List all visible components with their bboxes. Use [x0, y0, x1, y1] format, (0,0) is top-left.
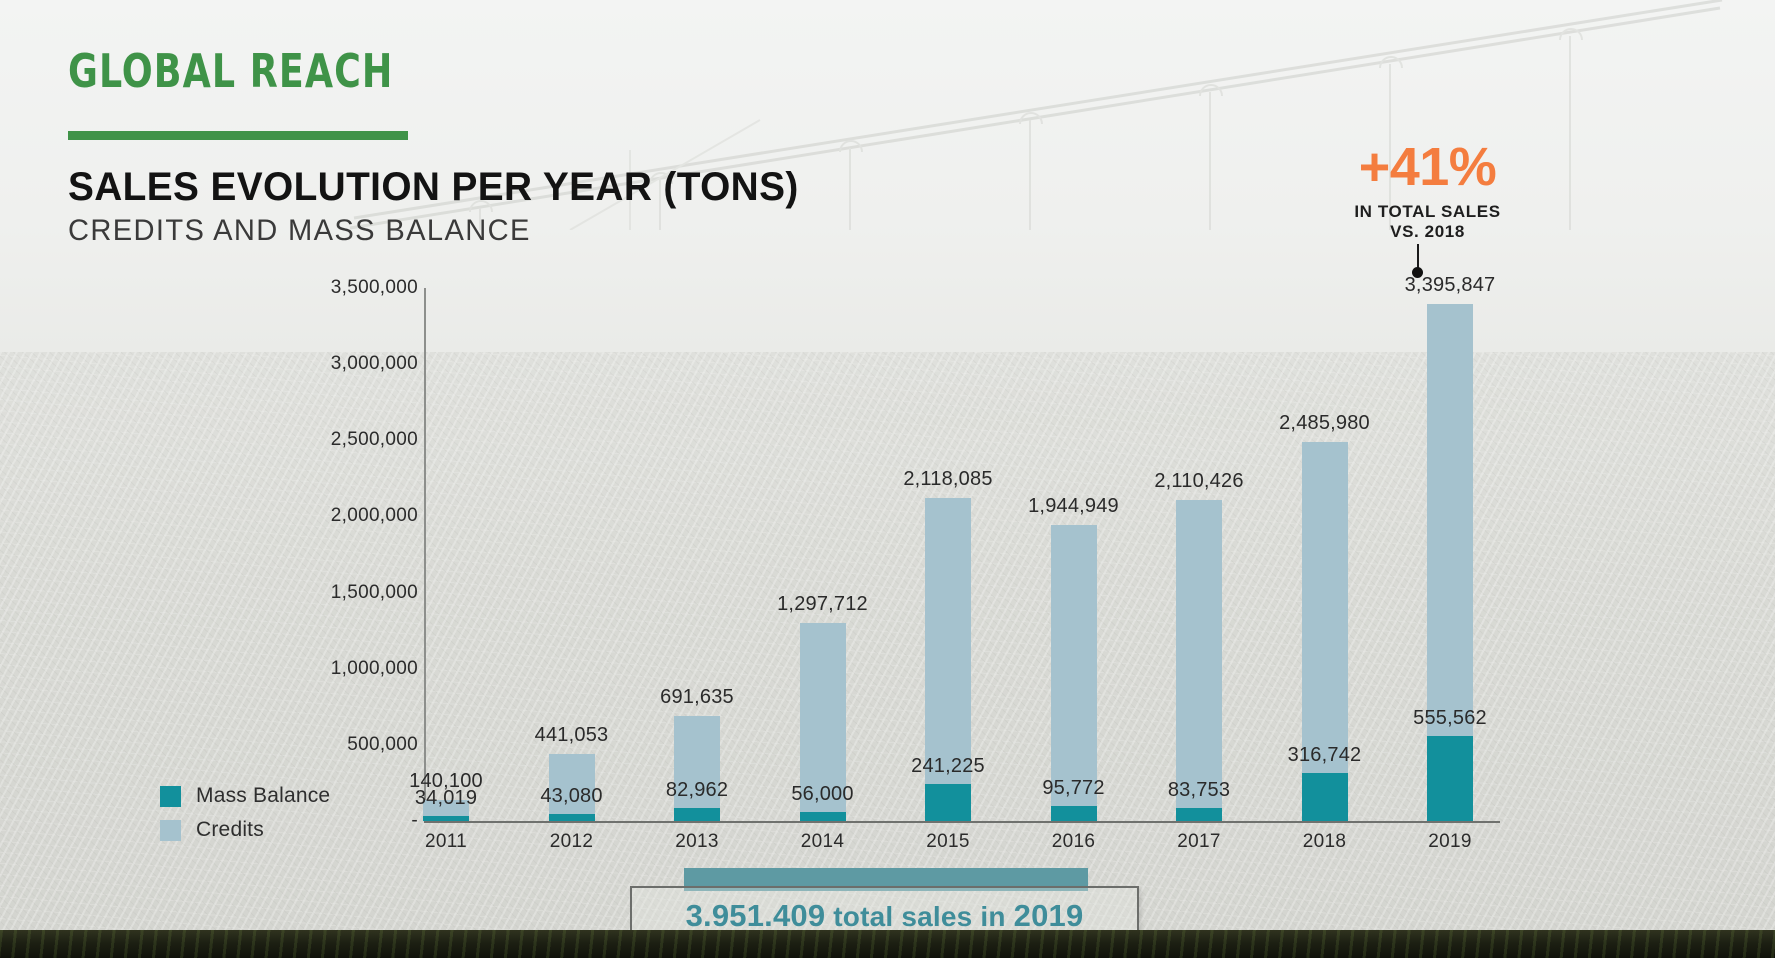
x-axis-tick: 2014 — [763, 831, 883, 853]
bar-label-mass-balance: 82,962 — [666, 779, 728, 802]
bar-label-mass-balance: 316,742 — [1288, 744, 1362, 767]
bar-segment-mass-balance[interactable] — [1302, 773, 1348, 821]
bar-label-credits: 1,944,949 — [1028, 495, 1119, 518]
bar-segment-mass-balance[interactable] — [800, 812, 846, 821]
bar-column[interactable]: 1,944,94995,772 — [1051, 525, 1097, 821]
x-axis-line — [424, 821, 1500, 823]
bar-label-mass-balance: 83,753 — [1168, 779, 1230, 802]
legend-label-mass-balance: Mass Balance — [196, 784, 330, 808]
y-axis-tick: 500,000 — [268, 734, 418, 756]
bar-label-credits: 441,053 — [535, 724, 609, 747]
y-axis-tick: 1,500,000 — [268, 582, 418, 604]
total-sales-middle: total sales in — [825, 901, 1013, 932]
bar-column[interactable]: 140,10034,019 — [423, 800, 469, 821]
x-axis-tick: 2017 — [1139, 831, 1259, 853]
bar-segment-mass-balance[interactable] — [925, 784, 971, 821]
bar-label-credits: 2,110,426 — [1154, 470, 1243, 493]
bar-segment-credits[interactable] — [925, 498, 971, 784]
bar-column[interactable]: 2,118,085241,225 — [925, 498, 971, 821]
bar-column[interactable]: 2,485,980316,742 — [1302, 442, 1348, 821]
bar-segment-mass-balance[interactable] — [1176, 808, 1222, 821]
y-axis-tick: 2,000,000 — [268, 505, 418, 527]
x-axis-tick: 2011 — [386, 831, 506, 853]
x-axis-tick: 2015 — [888, 831, 1008, 853]
bar-label-credits: 1,297,712 — [777, 593, 868, 616]
bar-label-mass-balance: 95,772 — [1042, 777, 1104, 800]
bar-segment-credits[interactable] — [1302, 442, 1348, 772]
x-axis-tick: 2018 — [1265, 831, 1385, 853]
bar-segment-mass-balance[interactable] — [674, 808, 720, 821]
y-axis-line — [424, 288, 426, 822]
bar-segment-credits[interactable] — [1176, 500, 1222, 809]
legend-label-credits: Credits — [196, 818, 264, 842]
bar-segment-mass-balance[interactable] — [549, 814, 595, 821]
x-axis-tick: 2019 — [1390, 831, 1510, 853]
bar-segment-credits[interactable] — [1427, 304, 1473, 737]
bar-segment-mass-balance[interactable] — [1427, 736, 1473, 821]
total-sales-year: 2019 — [1014, 898, 1084, 933]
bar-label-credits: 2,118,085 — [903, 468, 992, 491]
bar-segment-mass-balance[interactable] — [423, 816, 469, 821]
bottom-film-strip — [0, 930, 1775, 958]
bar-column[interactable]: 691,63582,962 — [674, 716, 720, 821]
bar-label-mass-balance: 56,000 — [791, 783, 853, 806]
x-axis-tick: 2016 — [1014, 831, 1134, 853]
y-axis-tick: 3,500,000 — [268, 277, 418, 299]
slide-canvas: GLOBAL REACH SALES EVOLUTION PER YEAR (T… — [0, 0, 1775, 958]
legend-swatch-mass-balance — [160, 786, 181, 807]
bar-column[interactable]: 1,297,71256,000 — [800, 623, 846, 821]
x-axis-tick: 2012 — [512, 831, 632, 853]
bar-column[interactable]: 3,395,847555,562 — [1427, 304, 1473, 821]
y-axis-tick: 1,000,000 — [268, 658, 418, 680]
legend-item-credits: Credits — [160, 813, 330, 847]
bar-column[interactable]: 441,05343,080 — [549, 754, 595, 821]
bar-label-mass-balance: 34,019 — [415, 787, 477, 810]
bar-label-mass-balance: 241,225 — [911, 755, 985, 778]
bar-label-mass-balance: 555,562 — [1413, 707, 1487, 730]
chart-legend: Mass Balance Credits — [160, 779, 330, 847]
bar-column[interactable]: 2,110,42683,753 — [1176, 500, 1222, 821]
x-axis-tick: 2013 — [637, 831, 757, 853]
total-sales-text: 3.951.409 total sales in 2019 — [686, 898, 1084, 934]
y-axis-tick: 2,500,000 — [268, 429, 418, 451]
total-sales-value: 3.951.409 — [686, 898, 826, 933]
y-axis-tick: 3,000,000 — [268, 353, 418, 375]
bar-label-credits: 3,395,847 — [1405, 274, 1496, 297]
bar-segment-mass-balance[interactable] — [1051, 806, 1097, 821]
legend-swatch-credits — [160, 820, 181, 841]
bar-label-mass-balance: 43,080 — [540, 785, 602, 808]
bar-label-credits: 2,485,980 — [1279, 412, 1370, 435]
bar-label-credits: 691,635 — [660, 686, 734, 709]
legend-item-mass-balance: Mass Balance — [160, 779, 330, 813]
bar-segment-credits[interactable] — [1051, 525, 1097, 807]
